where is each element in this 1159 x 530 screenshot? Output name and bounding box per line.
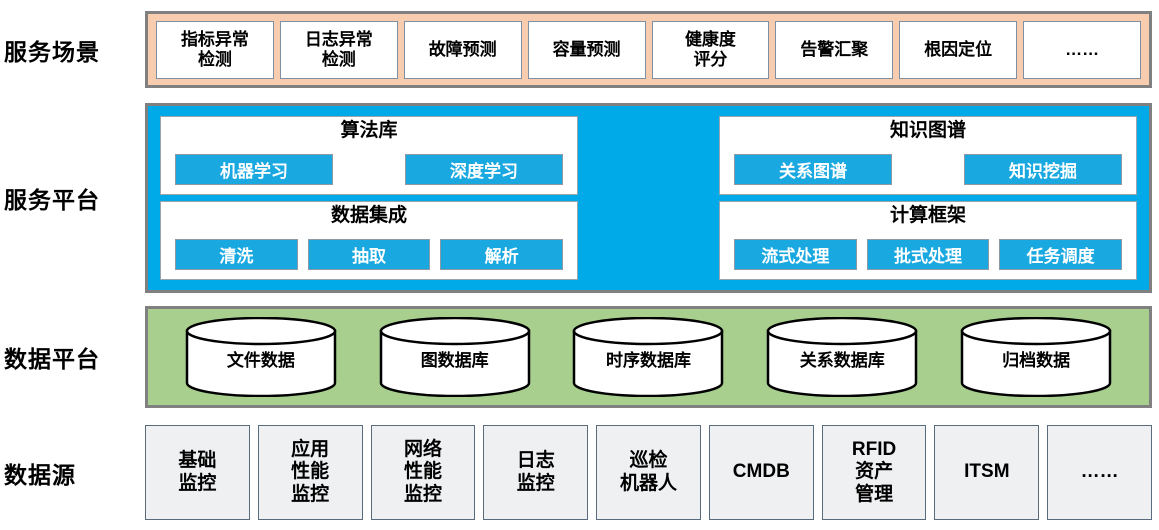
cylinder-icon <box>185 317 337 397</box>
chip-stream-processing[interactable]: 流式处理 <box>734 239 857 270</box>
chip-task-scheduling[interactable]: 任务调度 <box>999 239 1122 270</box>
panel-knowledge-graph: 知识图谱 关系图谱 知识挖掘 <box>719 116 1137 195</box>
source-box-infrastructure-monitoring[interactable]: 基础 监控 <box>145 425 250 520</box>
database-cylinder-timeseries-database[interactable]: 时序数据库 <box>572 317 724 397</box>
cylinder-icon <box>379 317 531 397</box>
source-box-network-performance-monitoring[interactable]: 网络 性能 监控 <box>371 425 476 520</box>
scenario-box-log-anomaly-detection[interactable]: 日志异常 检测 <box>280 21 398 79</box>
architecture-diagram: 服务场景 指标异常 检测 日志异常 检测 故障预测 容量预测 健康度 评分 告警… <box>0 0 1159 530</box>
cylinder-icon <box>572 317 724 397</box>
source-box-rfid-asset-management[interactable]: RFID 资产 管理 <box>822 425 927 520</box>
source-box-inspection-robot[interactable]: 巡检 机器人 <box>596 425 701 520</box>
row-label-data-platform: 数据平台 <box>4 306 140 408</box>
panel-algorithm-library: 算法库 机器学习 深度学习 <box>160 116 578 195</box>
panel-title-data-integration: 数据集成 <box>331 206 407 227</box>
chip-batch-processing[interactable]: 批式处理 <box>867 239 990 270</box>
scenario-box-root-cause-location[interactable]: 根因定位 <box>899 21 1017 79</box>
database-cylinder-relational-database[interactable]: 关系数据库 <box>766 317 918 397</box>
chips-data-integration: 清洗 抽取 解析 <box>161 230 577 279</box>
chip-parsing[interactable]: 解析 <box>440 239 563 270</box>
chip-extraction[interactable]: 抽取 <box>308 239 431 270</box>
row-label-service-platform: 服务平台 <box>4 103 140 293</box>
panel-title-computing-framework: 计算框架 <box>890 206 966 227</box>
chip-cleaning[interactable]: 清洗 <box>175 239 298 270</box>
cylinder-icon <box>766 317 918 397</box>
chip-relation-graph[interactable]: 关系图谱 <box>734 154 892 185</box>
chip-machine-learning[interactable]: 机器学习 <box>175 154 333 185</box>
chip-deep-learning[interactable]: 深度学习 <box>405 154 563 185</box>
source-box-application-performance-monitoring[interactable]: 应用 性能 监控 <box>258 425 363 520</box>
scenario-box-fault-prediction[interactable]: 故障预测 <box>404 21 522 79</box>
panel-title-knowledge-graph: 知识图谱 <box>890 121 966 142</box>
platform-row-bottom: 数据集成 清洗 抽取 解析 计算框架 流式处理 批式处理 任务调度 <box>160 201 1137 280</box>
chips-computing-framework: 流式处理 批式处理 任务调度 <box>720 230 1136 279</box>
source-box-itsm[interactable]: ITSM <box>934 425 1039 520</box>
platform-row-top: 算法库 机器学习 深度学习 知识图谱 关系图谱 知识挖掘 <box>160 116 1137 195</box>
data-platform-band: 文件数据 图数据库 时序数据库 关系数据库 <box>145 306 1152 408</box>
panel-data-integration: 数据集成 清洗 抽取 解析 <box>160 201 578 280</box>
source-box-log-monitoring[interactable]: 日志 监控 <box>483 425 588 520</box>
database-cylinder-graph-database[interactable]: 图数据库 <box>379 317 531 397</box>
row-label-service-scenario: 服务场景 <box>4 11 140 88</box>
database-cylinder-file-data[interactable]: 文件数据 <box>185 317 337 397</box>
service-platform-band: 算法库 机器学习 深度学习 知识图谱 关系图谱 知识挖掘 数据集成 <box>145 103 1152 293</box>
service-scenario-band: 指标异常 检测 日志异常 检测 故障预测 容量预测 健康度 评分 告警汇聚 根因… <box>145 11 1152 88</box>
scenario-box-alarm-aggregation[interactable]: 告警汇聚 <box>775 21 893 79</box>
cylinder-icon <box>960 317 1112 397</box>
panel-title-algorithm-library: 算法库 <box>340 121 397 142</box>
chips-knowledge-graph: 关系图谱 知识挖掘 <box>720 145 1136 194</box>
panel-computing-framework: 计算框架 流式处理 批式处理 任务调度 <box>719 201 1137 280</box>
source-box-cmdb[interactable]: CMDB <box>709 425 814 520</box>
scenario-box-more[interactable]: …… <box>1023 21 1141 79</box>
data-source-row: 基础 监控 应用 性能 监控 网络 性能 监控 日志 监控 巡检 机器人 CMD… <box>145 425 1152 520</box>
chips-algorithm-library: 机器学习 深度学习 <box>161 145 577 194</box>
source-box-more[interactable]: …… <box>1047 425 1152 520</box>
scenario-box-metric-anomaly-detection[interactable]: 指标异常 检测 <box>156 21 274 79</box>
database-cylinder-archive-data[interactable]: 归档数据 <box>960 317 1112 397</box>
chip-knowledge-mining[interactable]: 知识挖掘 <box>964 154 1122 185</box>
scenario-box-capacity-prediction[interactable]: 容量预测 <box>528 21 646 79</box>
scenario-box-health-score[interactable]: 健康度 评分 <box>652 21 770 79</box>
row-label-data-source: 数据源 <box>4 425 140 520</box>
